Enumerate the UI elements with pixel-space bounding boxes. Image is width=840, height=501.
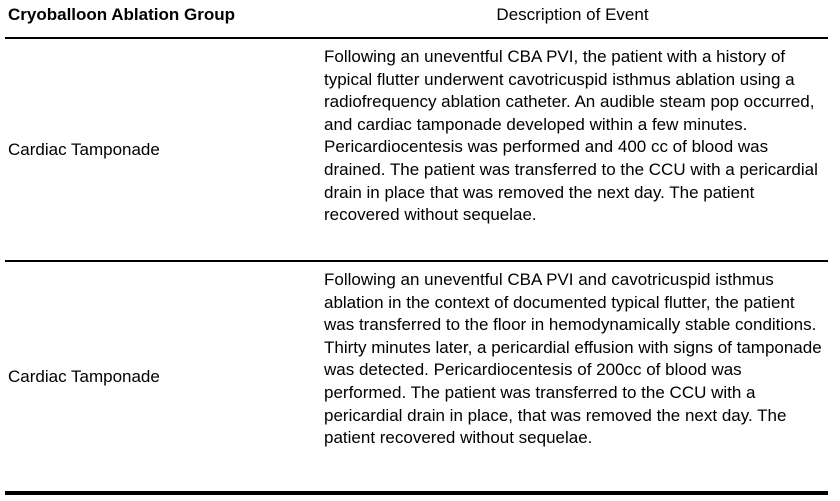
cell-description: Following an uneventful CBA PVI, the pat…: [317, 38, 828, 261]
table-row: Cardiac Tamponade Following an uneventfu…: [5, 38, 828, 261]
group-label: Cardiac Tamponade: [5, 366, 317, 388]
column-header-description-label: Description of Event: [317, 5, 828, 37]
column-header-description: Description of Event: [317, 0, 828, 38]
table-container: Cryoballoon Ablation Group Description o…: [0, 0, 840, 501]
group-label: Cardiac Tamponade: [5, 139, 317, 161]
cell-description: Following an uneventful CBA PVI and cavo…: [317, 261, 828, 493]
column-header-group-label: Cryoballoon Ablation Group: [5, 5, 317, 37]
adverse-event-table: Cryoballoon Ablation Group Description o…: [5, 0, 828, 495]
column-header-group: Cryoballoon Ablation Group: [5, 0, 317, 38]
table-header-row: Cryoballoon Ablation Group Description o…: [5, 0, 828, 38]
cell-group: Cardiac Tamponade: [5, 261, 317, 493]
description-text: Following an uneventful CBA PVI and cavo…: [317, 262, 828, 458]
cell-group: Cardiac Tamponade: [5, 38, 317, 261]
table-row: Cardiac Tamponade Following an uneventfu…: [5, 261, 828, 493]
table-body: Cardiac Tamponade Following an uneventfu…: [5, 38, 828, 493]
table-header: Cryoballoon Ablation Group Description o…: [5, 0, 828, 38]
description-text: Following an uneventful CBA PVI, the pat…: [317, 39, 828, 235]
